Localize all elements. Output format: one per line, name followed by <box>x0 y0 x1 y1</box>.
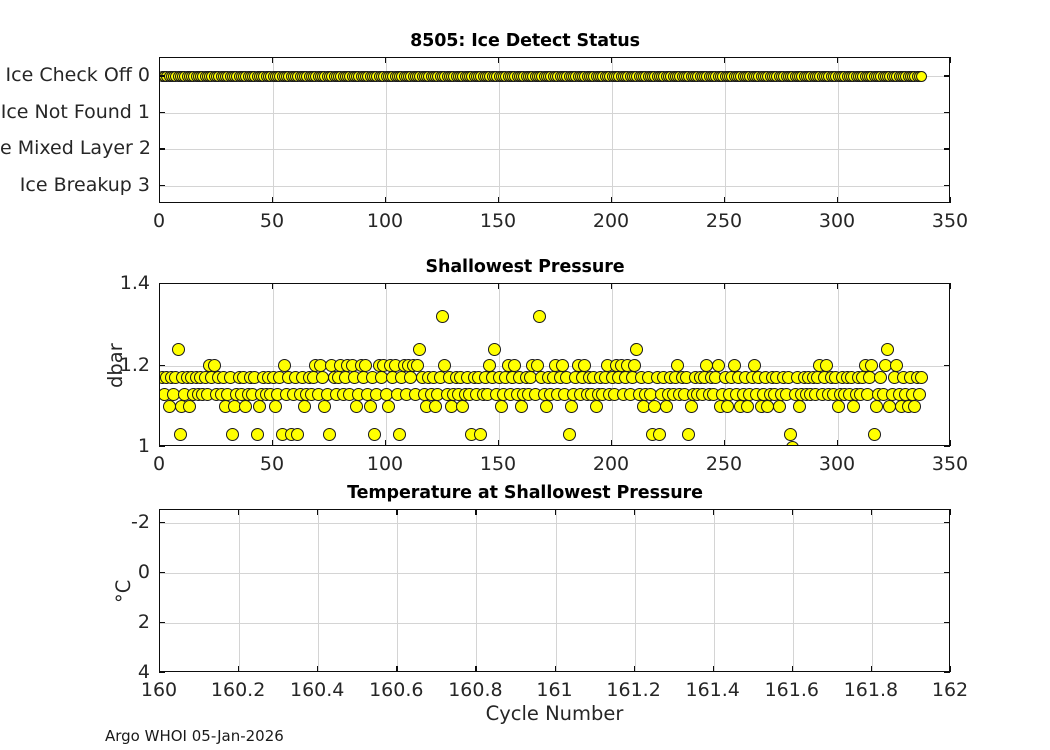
x-tick-label: 161.6 <box>765 679 819 701</box>
x-tick <box>792 509 793 515</box>
x-tick <box>634 509 635 515</box>
x-tick <box>396 509 397 515</box>
x-tick-label: 162 <box>932 679 968 701</box>
x-gridline <box>635 510 636 671</box>
plot-area-temperature-shallowest-pressure <box>160 510 949 671</box>
y-tick-label: 0 <box>0 561 150 583</box>
x-tick <box>475 666 476 672</box>
panel-temperature-shallowest-pressure: Temperature at Shallowest Pressure °C -2… <box>0 0 1050 700</box>
x-gridline <box>793 510 794 671</box>
y-gridline <box>160 523 949 524</box>
x-tick-label: 161.2 <box>606 679 660 701</box>
panel-title-temperature-shallowest-pressure: Temperature at Shallowest Pressure <box>0 483 1050 503</box>
axes-temperature-shallowest-pressure <box>159 509 950 672</box>
y-tick <box>159 672 165 673</box>
y-tick <box>159 522 165 523</box>
x-gridline <box>476 510 477 671</box>
y-tick <box>159 572 165 573</box>
y-tick-label: 4 <box>0 661 150 683</box>
x-gridline <box>556 510 557 671</box>
x-tick <box>396 666 397 672</box>
x-tick-label: 161 <box>536 679 572 701</box>
x-tick <box>871 509 872 515</box>
y-tick <box>944 622 950 623</box>
x-tick <box>475 509 476 515</box>
figure-canvas: 8505: Ice Detect Status Ice Check Off 0I… <box>0 0 1050 750</box>
y-tick-label: 2 <box>0 611 150 633</box>
x-tick-label: 160.4 <box>290 679 344 701</box>
x-tick <box>713 666 714 672</box>
x-tick <box>950 509 951 515</box>
y-tick-label: -2 <box>0 511 150 533</box>
x-tick-label: 160.6 <box>369 679 423 701</box>
x-tick-label: 160.2 <box>211 679 265 701</box>
ylabel-temperature-shallowest-pressure: °C <box>112 580 135 603</box>
x-tick-label: 161.4 <box>685 679 739 701</box>
y-tick <box>944 522 950 523</box>
xlabel-cycle-number: Cycle Number <box>159 702 950 725</box>
x-tick <box>713 509 714 515</box>
x-gridline <box>872 510 873 671</box>
x-gridline <box>318 510 319 671</box>
footer-credit: Argo WHOI 05-Jan-2026 <box>105 727 284 745</box>
x-tick <box>317 666 318 672</box>
x-tick <box>238 509 239 515</box>
y-gridline <box>160 573 949 574</box>
x-tick <box>634 666 635 672</box>
x-tick <box>792 666 793 672</box>
x-tick <box>555 509 556 515</box>
y-tick <box>944 572 950 573</box>
x-tick <box>950 666 951 672</box>
x-gridline <box>714 510 715 671</box>
y-tick <box>944 672 950 673</box>
x-tick <box>238 666 239 672</box>
x-gridline <box>239 510 240 671</box>
x-tick <box>555 666 556 672</box>
x-tick-label: 160.8 <box>448 679 502 701</box>
x-tick-label: 161.8 <box>844 679 898 701</box>
y-tick <box>159 622 165 623</box>
x-tick <box>317 509 318 515</box>
x-gridline <box>397 510 398 671</box>
y-gridline <box>160 623 949 624</box>
x-tick-label: 160 <box>141 679 177 701</box>
x-tick <box>871 666 872 672</box>
x-tick <box>159 509 160 515</box>
